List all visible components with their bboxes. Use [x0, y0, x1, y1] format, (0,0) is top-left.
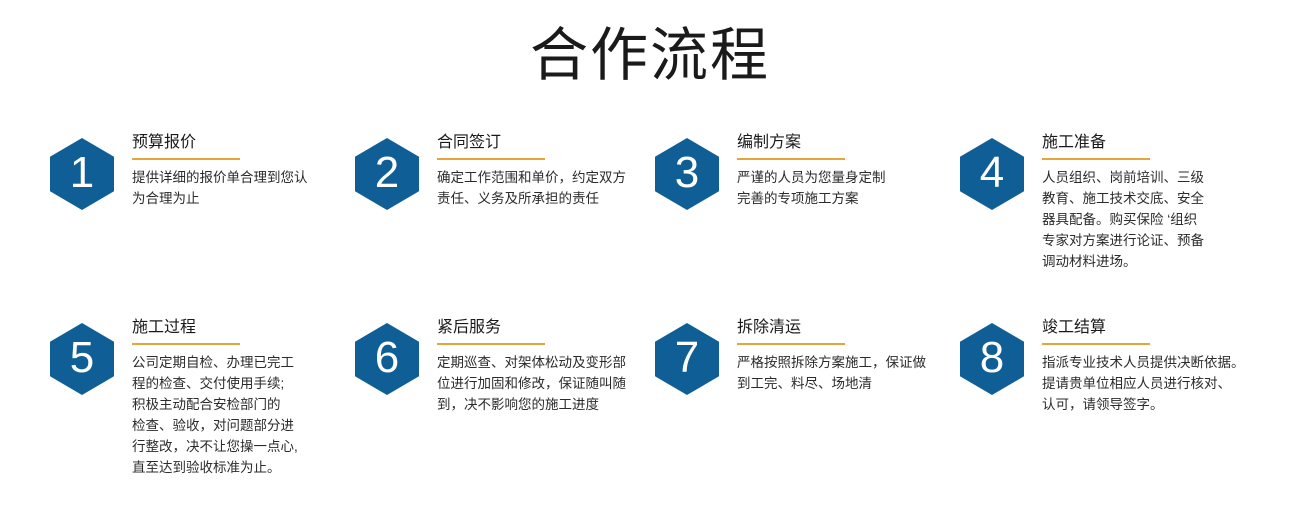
hexagon-badge-2: 2 [355, 138, 419, 210]
hexagon-badge-3: 3 [655, 138, 719, 210]
step-text-8: 竣工结算 指派专业技术人员提供决断依据。 提请贵单位相应人员进行核对、 认可，请… [1024, 315, 1260, 415]
step-heading-8: 竣工结算 [1042, 317, 1260, 339]
step-number-7: 7 [655, 323, 719, 395]
page-title: 合作流程 [530, 18, 770, 92]
hexagon-badge-7: 7 [655, 323, 719, 395]
step-heading-3: 编制方案 [737, 132, 955, 154]
step-heading-4: 施工准备 [1042, 132, 1260, 154]
step-body-8: 指派专业技术人员提供决断依据。 提请贵单位相应人员进行核对、 认可，请领导签字。 [1042, 352, 1260, 415]
step-text-4: 施工准备 人员组织、岗前培训、三级 教育、施工技术交底、安全 器具配备。购买保险… [1024, 130, 1260, 272]
step-item-4[interactable]: 4 施工准备 人员组织、岗前培训、三级 教育、施工技术交底、安全 器具配备。购买… [960, 130, 1260, 272]
step-number-8: 8 [960, 323, 1024, 395]
step-body-7: 严格按照拆除方案施工，保证做 到工完、料尽、场地清 [737, 352, 955, 394]
step-item-6[interactable]: 6 紧后服务 定期巡查、对架体松动及变形部 位进行加固和修改，保证随叫随 到，决… [355, 315, 650, 415]
hexagon-badge-8: 8 [960, 323, 1024, 395]
heading-underline-4 [1042, 158, 1150, 160]
steps-row-1: 1 预算报价 提供详细的报价单合理到您认 为合理为止 2 合同签订 确定工作范围… [0, 130, 1300, 315]
step-item-3[interactable]: 3 编制方案 严谨的人员为您量身定制 完善的专项施工方案 [655, 130, 955, 210]
step-item-1[interactable]: 1 预算报价 提供详细的报价单合理到您认 为合理为止 [50, 130, 350, 210]
steps-grid: 1 预算报价 提供详细的报价单合理到您认 为合理为止 2 合同签订 确定工作范围… [0, 130, 1300, 515]
step-number-1: 1 [50, 138, 114, 210]
step-body-3: 严谨的人员为您量身定制 完善的专项施工方案 [737, 167, 955, 209]
hexagon-badge-6: 6 [355, 323, 419, 395]
step-item-5[interactable]: 5 施工过程 公司定期自检、办理已完工 程的检查、交付使用手续; 积极主动配合安… [50, 315, 350, 478]
step-text-7: 拆除清运 严格按照拆除方案施工，保证做 到工完、料尽、场地清 [719, 315, 955, 394]
step-heading-6: 紧后服务 [437, 317, 650, 339]
step-text-6: 紧后服务 定期巡查、对架体松动及变形部 位进行加固和修改，保证随叫随 到，决不影… [419, 315, 650, 415]
steps-row-2: 5 施工过程 公司定期自检、办理已完工 程的检查、交付使用手续; 积极主动配合安… [0, 315, 1300, 515]
step-body-6: 定期巡查、对架体松动及变形部 位进行加固和修改，保证随叫随 到，决不影响您的施工… [437, 352, 650, 415]
step-body-2: 确定工作范围和单价，约定双方 责任、义务及所承担的责任 [437, 167, 650, 209]
step-heading-2: 合同签订 [437, 132, 650, 154]
step-text-3: 编制方案 严谨的人员为您量身定制 完善的专项施工方案 [719, 130, 955, 209]
step-number-2: 2 [355, 138, 419, 210]
heading-underline-7 [737, 343, 845, 345]
heading-underline-5 [132, 343, 240, 345]
hexagon-badge-5: 5 [50, 323, 114, 395]
step-text-1: 预算报价 提供详细的报价单合理到您认 为合理为止 [114, 130, 350, 209]
step-number-3: 3 [655, 138, 719, 210]
hexagon-badge-1: 1 [50, 138, 114, 210]
step-number-4: 4 [960, 138, 1024, 210]
step-number-5: 5 [50, 323, 114, 395]
infographic-page: 合作流程 1 预算报价 提供详细的报价单合理到您认 为合理为止 2 [0, 0, 1300, 532]
heading-underline-8 [1042, 343, 1150, 345]
step-text-2: 合同签订 确定工作范围和单价，约定双方 责任、义务及所承担的责任 [419, 130, 650, 209]
step-item-2[interactable]: 2 合同签订 确定工作范围和单价，约定双方 责任、义务及所承担的责任 [355, 130, 650, 210]
step-body-4: 人员组织、岗前培训、三级 教育、施工技术交底、安全 器具配备。购买保险 ‘组织 … [1042, 167, 1260, 272]
step-heading-7: 拆除清运 [737, 317, 955, 339]
step-text-5: 施工过程 公司定期自检、办理已完工 程的检查、交付使用手续; 积极主动配合安检部… [114, 315, 350, 478]
step-body-1: 提供详细的报价单合理到您认 为合理为止 [132, 167, 350, 209]
step-heading-5: 施工过程 [132, 317, 350, 339]
step-item-8[interactable]: 8 竣工结算 指派专业技术人员提供决断依据。 提请贵单位相应人员进行核对、 认可… [960, 315, 1260, 415]
heading-underline-3 [737, 158, 845, 160]
page-title-container: 合作流程 [0, 18, 1300, 92]
step-heading-1: 预算报价 [132, 132, 350, 154]
step-number-6: 6 [355, 323, 419, 395]
heading-underline-6 [437, 343, 545, 345]
hexagon-badge-4: 4 [960, 138, 1024, 210]
heading-underline-1 [132, 158, 240, 160]
step-item-7[interactable]: 7 拆除清运 严格按照拆除方案施工，保证做 到工完、料尽、场地清 [655, 315, 955, 395]
heading-underline-2 [437, 158, 545, 160]
step-body-5: 公司定期自检、办理已完工 程的检查、交付使用手续; 积极主动配合安检部门的 检查… [132, 352, 350, 478]
